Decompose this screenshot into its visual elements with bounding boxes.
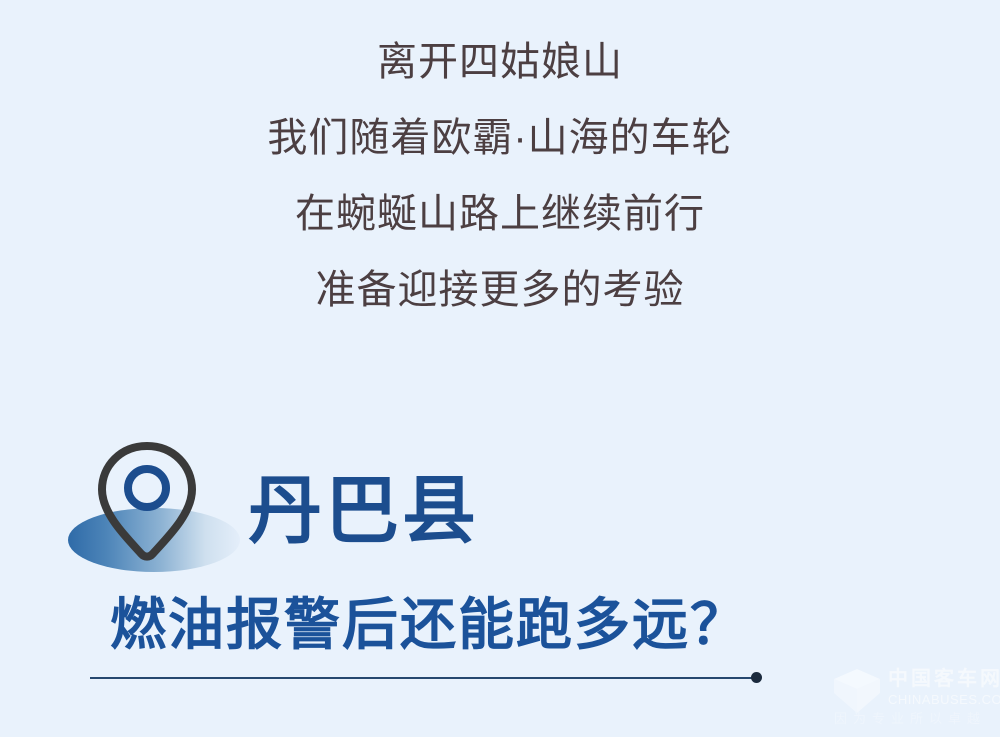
watermark-tagline: 因为专业所以卓越: [834, 711, 986, 727]
intro-line-4: 准备迎接更多的考验: [0, 252, 1000, 328]
map-pin-group: [60, 432, 250, 582]
county-name: 丹巴县: [248, 474, 479, 548]
intro-line-2: 我们随着欧霸·山海的车轮: [0, 100, 1000, 176]
question-headline: 燃油报警后还能跑多远？: [110, 594, 748, 656]
intro-line-1: 离开四姑娘山: [0, 24, 1000, 100]
watermark: 中国客车网 CHINABUSES.COM 因为专业所以卓越: [826, 659, 994, 733]
map-pin-icon: [94, 440, 200, 562]
location-heading: 丹巴县: [0, 432, 1000, 592]
cube-logo-icon: [832, 667, 882, 715]
watermark-name-en: CHINABUSES.COM: [888, 692, 1000, 707]
intro-line-3: 在蜿蜒山路上继续前行: [0, 176, 1000, 252]
intro-text-block: 离开四姑娘山 我们随着欧霸·山海的车轮 在蜿蜒山路上继续前行 准备迎接更多的考验: [0, 24, 1000, 328]
divider-end-dot: [751, 672, 762, 683]
divider: [90, 672, 762, 684]
slide-canvas: 离开四姑娘山 我们随着欧霸·山海的车轮 在蜿蜒山路上继续前行 准备迎接更多的考验…: [0, 0, 1000, 737]
divider-line: [90, 677, 758, 679]
watermark-name-cn: 中国客车网: [888, 667, 1000, 691]
